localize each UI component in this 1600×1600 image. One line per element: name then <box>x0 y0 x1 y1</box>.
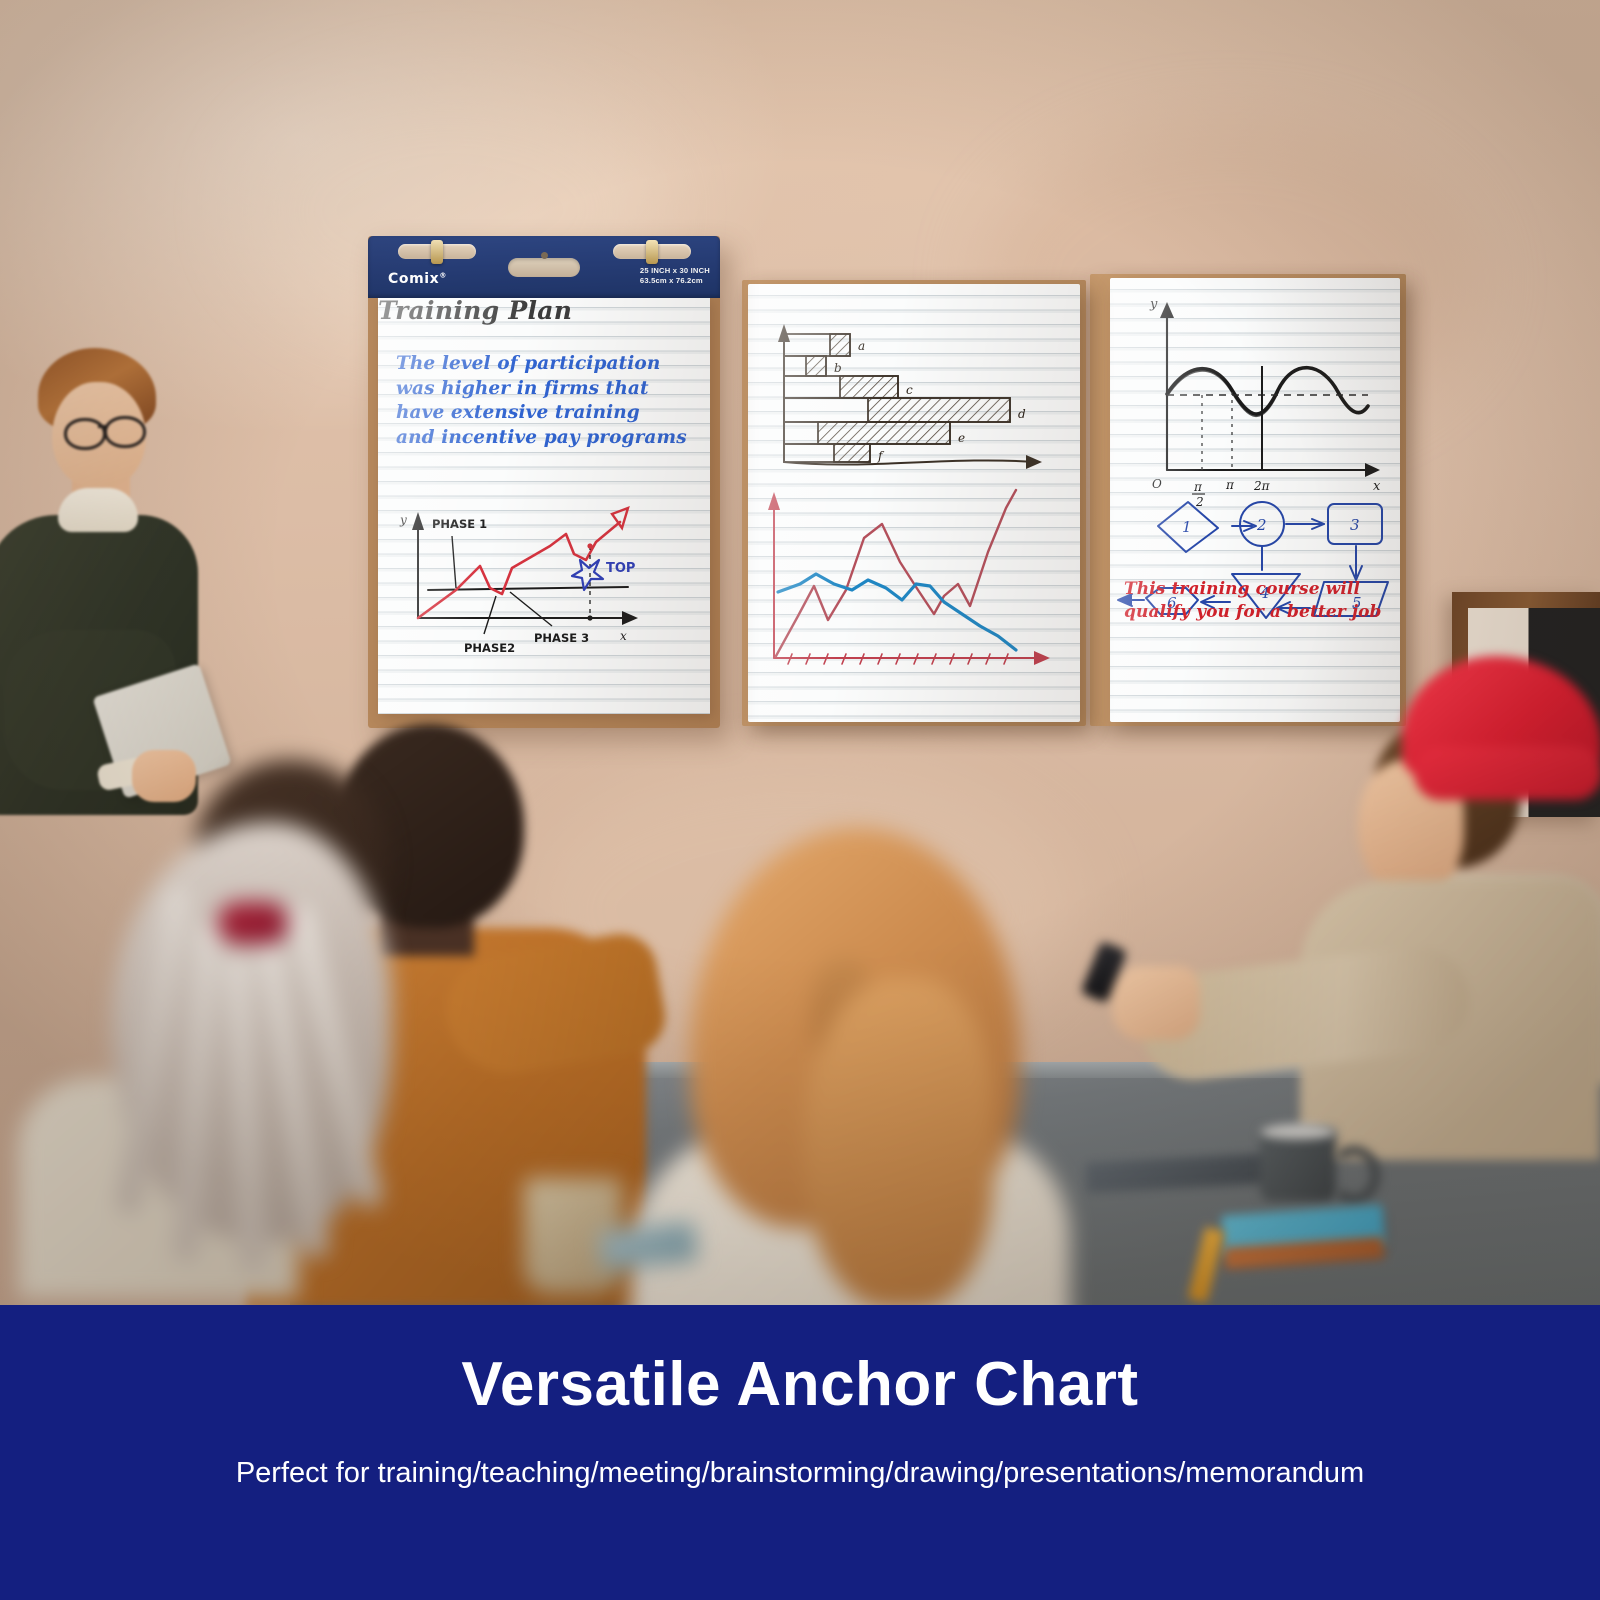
banner-subline: Perfect for training/teaching/meeting/br… <box>0 1457 1600 1490</box>
marketing-banner: Versatile Anchor Chart Perfect for train… <box>0 1305 1600 1600</box>
bar-label-f: f <box>877 449 885 463</box>
bar-label-d: d <box>1018 407 1026 421</box>
wave-x-axis-label: x <box>1373 479 1381 494</box>
flow-node-2-label: 2 <box>1256 516 1267 534</box>
braid-red-tie <box>218 902 288 944</box>
flow-node-3-label: 3 <box>1350 516 1360 534</box>
table-mug-rim <box>1260 1124 1336 1140</box>
wave-origin-label: O <box>1152 477 1162 491</box>
wave-tick-pi-half: π <box>1193 480 1203 494</box>
phase-y-axis-label: y <box>399 513 407 527</box>
bar-label-a: a <box>858 339 865 353</box>
glasses-right-lens <box>104 416 146 448</box>
bar-label-e: e <box>958 431 965 445</box>
sheet2-red-trend-line <box>776 490 1016 656</box>
sheet-1-title: Training Plan <box>378 296 710 325</box>
phase-1-label: PHASE 1 <box>432 517 487 531</box>
phase-2-label: PHASE2 <box>464 641 515 655</box>
sheet-1-body-text: The level of participationwas higher in … <box>396 352 687 450</box>
phase-x-axis-label: x <box>620 629 627 643</box>
wave-y-axis-label: y <box>1149 297 1158 312</box>
table-mug-handle <box>1328 1146 1380 1204</box>
wave-tick-pi: π <box>1225 478 1235 492</box>
sheet-3-red-text: This training course willqualify you for… <box>1124 578 1382 624</box>
glasses-left-lens <box>64 418 106 450</box>
flipchart-sheet-1[interactable]: Training Plan The level of participation… <box>378 296 710 714</box>
wave-tick-pi-half-denom: 2 <box>1195 495 1204 509</box>
product-marketing-image: y x O π 2 π 2π <box>0 0 1600 1600</box>
flow-node-1-label: 1 <box>1182 518 1192 536</box>
wave-tick-2pi: 2π <box>1253 479 1271 493</box>
bar-label-c: c <box>906 383 913 397</box>
sheet-2-drawings: a b c d e f <box>748 284 1080 722</box>
bar-label-b: b <box>834 361 842 375</box>
flipchart-sheet-2[interactable]: a b c d e f <box>748 284 1080 722</box>
sheet-1-phase-chart: PHASE 1 PHASE2 PHASE 3 TOP y x <box>384 484 710 684</box>
banner-headline: Versatile Anchor Chart <box>0 1349 1600 1420</box>
top-label: TOP <box>606 561 635 576</box>
phase-3-label: PHASE 3 <box>534 631 589 645</box>
audience-person-braids <box>72 726 402 1286</box>
audience-person-blonde <box>636 828 1086 1308</box>
